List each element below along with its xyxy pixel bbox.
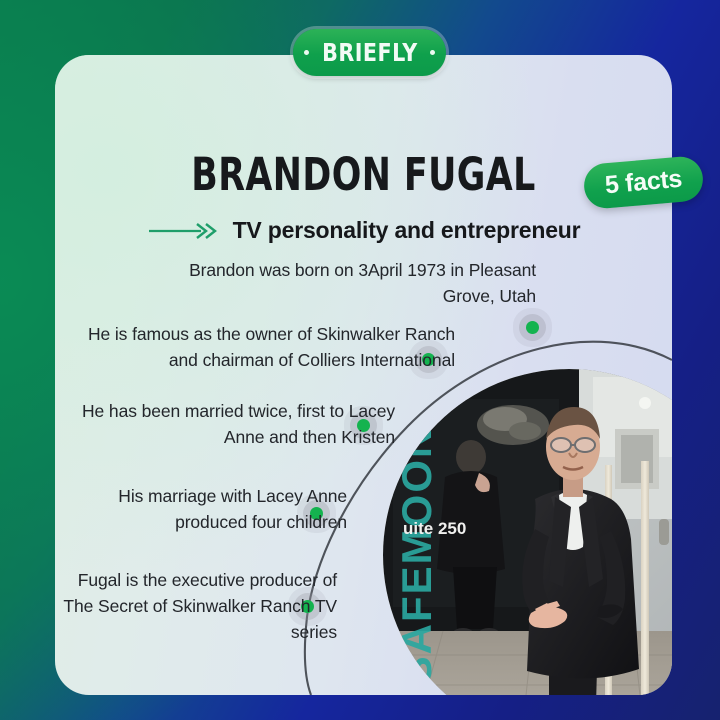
dot-icon [430,50,435,55]
dot-icon [304,50,309,55]
brand-name: BRIEFLY [322,38,417,67]
page-title: BRANDON FUGAL [98,148,629,201]
fact-item: Brandon was born on 3April 1973 in Pleas… [140,257,536,309]
svg-text:uite 250: uite 250 [403,519,466,538]
timeline-node-1 [526,321,539,334]
facts-count-badge[interactable]: 5 facts [582,155,704,210]
arrow-right-double-chevron-icon [147,222,219,240]
fact-item: Fugal is the executive producer of The S… [55,567,337,645]
infographic-canvas: SAFEMOON uite 250 BRANDON FUGAL [0,0,720,720]
subtitle-row: TV personality and entrepreneur [55,217,672,244]
page-subtitle: TV personality and entrepreneur [233,217,581,244]
facts-count-label: 5 facts [604,165,683,201]
fact-item: His marriage with Lacey Anne produced fo… [55,483,347,535]
brand-badge[interactable]: BRIEFLY [293,29,446,76]
fact-item: He is famous as the owner of Skinwalker … [55,321,455,373]
content-card: SAFEMOON uite 250 BRANDON FUGAL [55,55,672,695]
fact-item: He has been married twice, first to Lace… [55,398,395,450]
svg-text:SAFEMOON: SAFEMOON [393,426,440,685]
portrait-photo: SAFEMOON uite 250 [383,369,672,695]
